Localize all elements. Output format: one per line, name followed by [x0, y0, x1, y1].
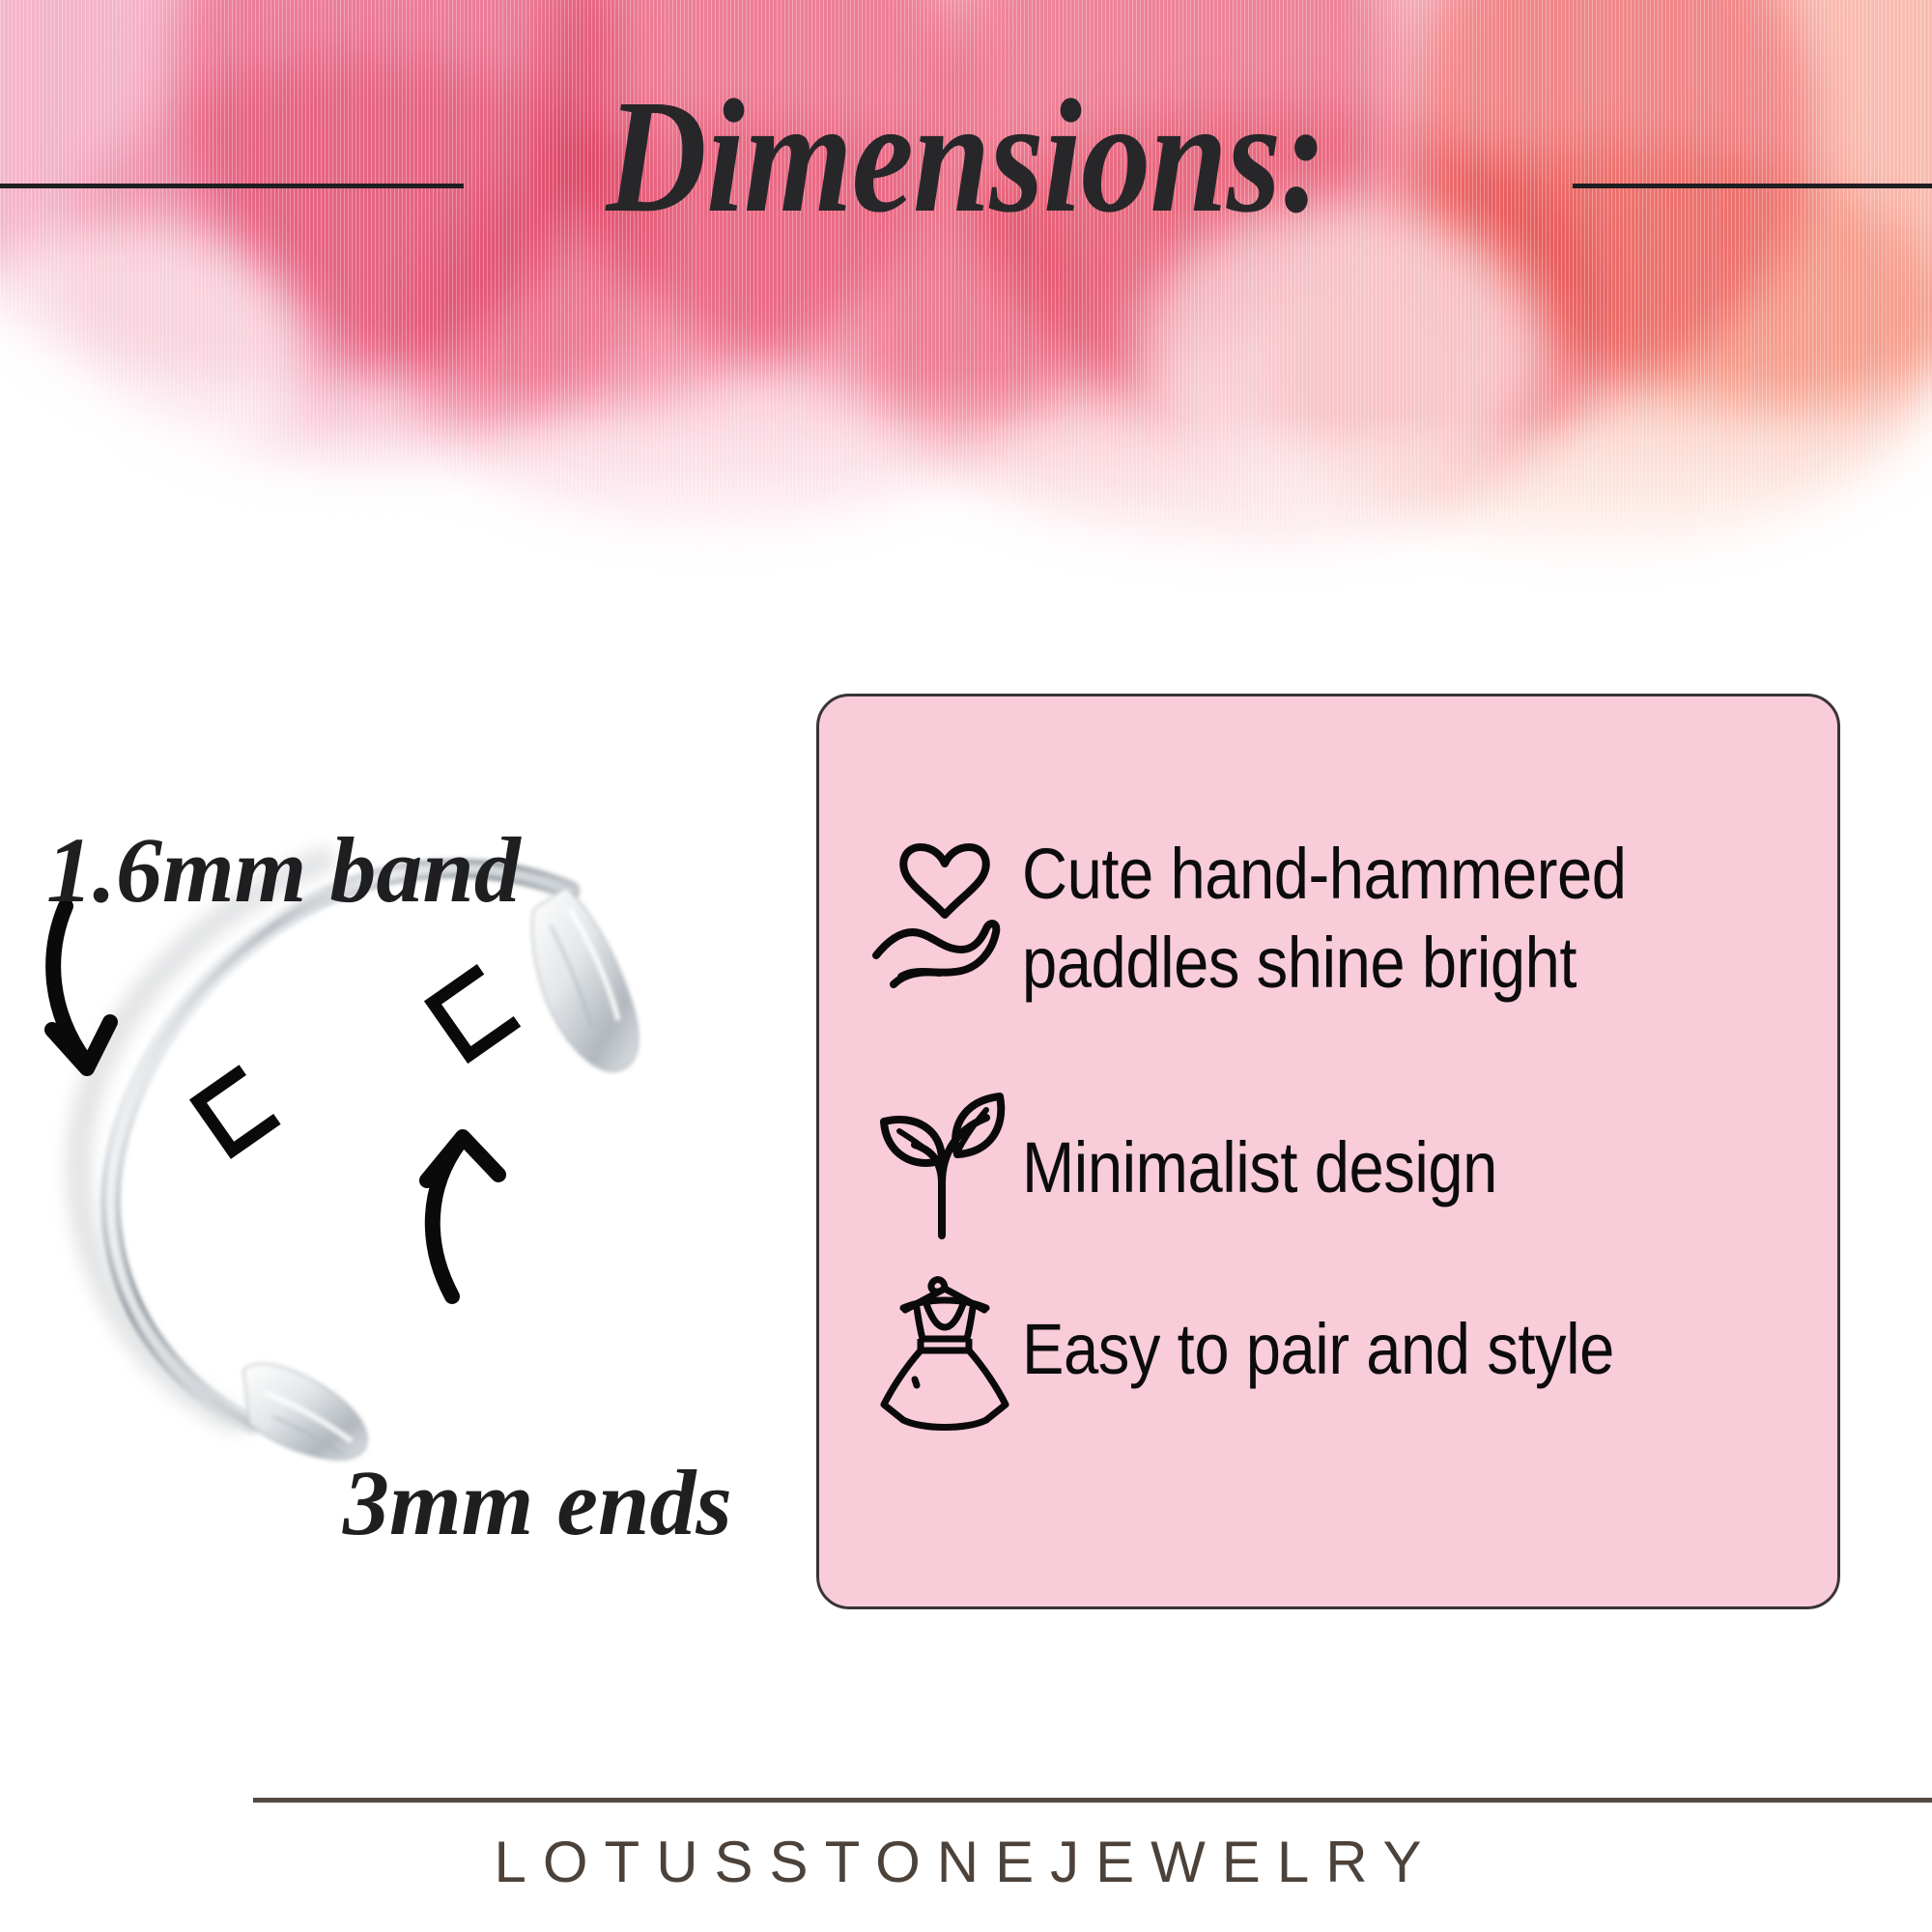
- page-title-row: Dimensions:: [0, 70, 1932, 253]
- infographic-canvas: Dimensions:: [0, 0, 1932, 1932]
- features-card: Cute hand-hammered paddles shine bright …: [816, 694, 1840, 1609]
- curved-arrow-up: [427, 1137, 498, 1296]
- callout-label-band: 1.6mm band: [46, 816, 521, 923]
- brand-name: LOTUSSTONEJEWELRY: [0, 1829, 1932, 1895]
- feature-label: Minimalist design: [1022, 1123, 1497, 1212]
- bracket-marker-end: [433, 973, 512, 1055]
- plant-sprout-icon: [867, 1083, 1022, 1252]
- feature-row: Easy to pair and style: [867, 1264, 1814, 1434]
- feature-row: Cute hand-hammered paddles shine bright: [867, 830, 1814, 1008]
- page-title: Dimensions:: [135, 70, 1797, 243]
- dress-on-hanger-icon: [867, 1264, 1022, 1434]
- heart-in-hand-icon: [867, 835, 1022, 1004]
- feature-row: Minimalist design: [867, 1083, 1814, 1252]
- paddle-end-lower: [243, 1364, 367, 1460]
- feature-label: Easy to pair and style: [1022, 1305, 1614, 1394]
- curved-arrow-down: [52, 906, 110, 1068]
- watercolor-bottom-fade: [0, 415, 1932, 638]
- bracket-marker-band: [198, 1073, 272, 1150]
- footer-divider: [253, 1798, 1932, 1803]
- callout-label-ends: 3mm ends: [343, 1449, 732, 1556]
- paddle-end-upper: [532, 887, 639, 1071]
- feature-label: Cute hand-hammered paddles shine bright: [1022, 830, 1719, 1008]
